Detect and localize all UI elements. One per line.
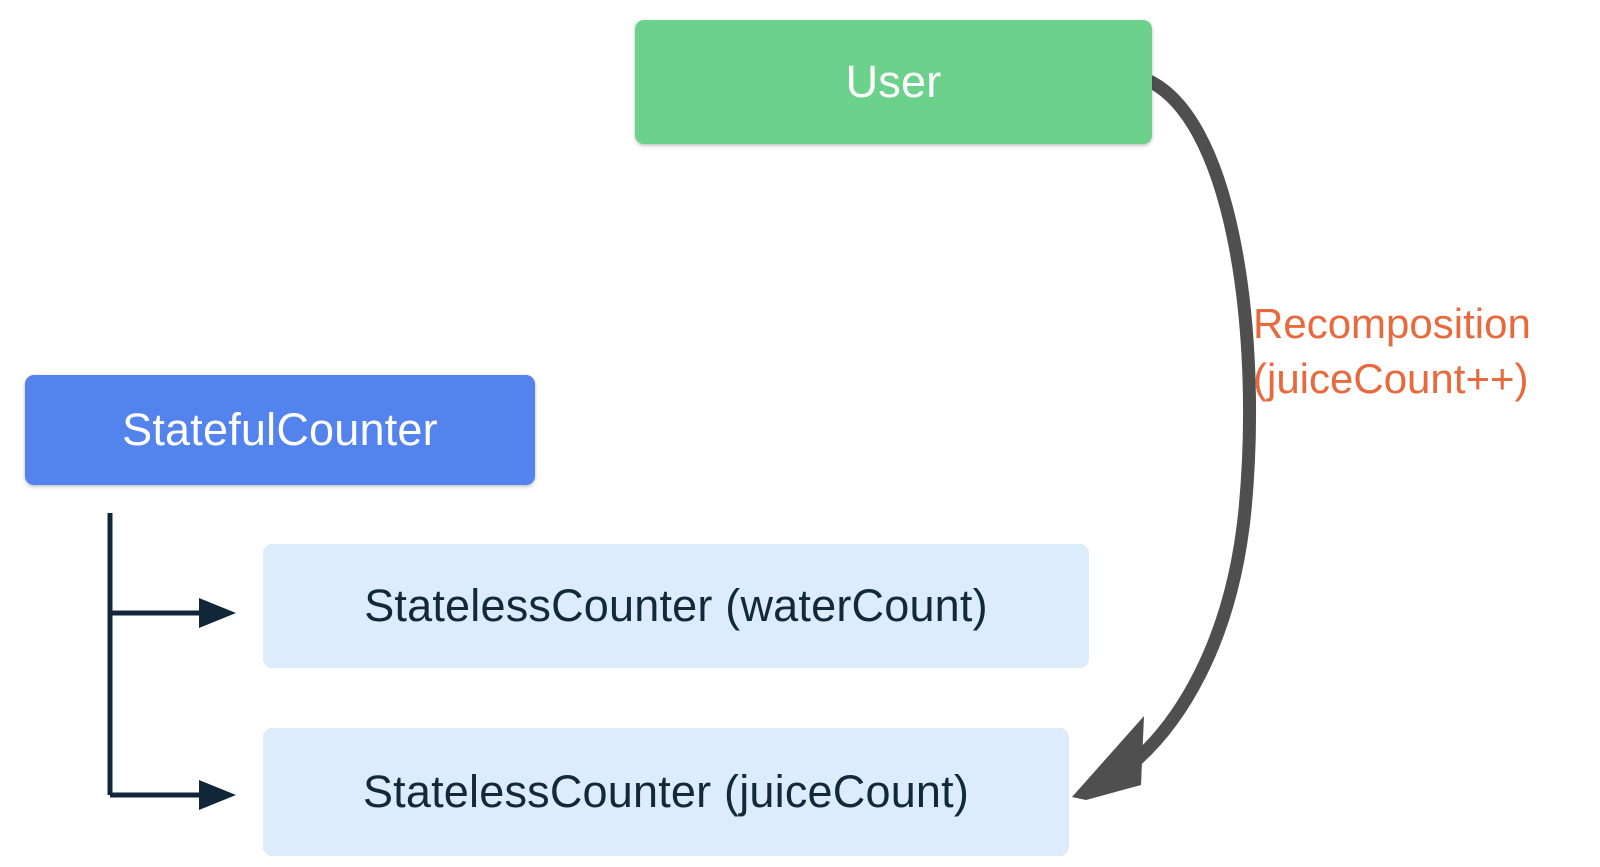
- node-stateful-counter[interactable]: StatefulCounter: [25, 375, 535, 485]
- diagram-canvas: User StatefulCounter StatelessCounter (w…: [0, 0, 1600, 867]
- edge-stateful-to-water-arrowhead: [199, 598, 236, 628]
- annotation-recomposition: Recomposition (juiceCount++): [1253, 297, 1531, 406]
- node-stateful-counter-label: StatefulCounter: [25, 406, 535, 453]
- annotation-recomposition-line-1: Recomposition: [1253, 297, 1531, 352]
- node-stateless-counter-juice[interactable]: StatelessCounter (juiceCount): [263, 728, 1069, 856]
- edge-stateful-to-juice-arrowhead: [199, 780, 236, 810]
- node-stateless-counter-water-label: StatelessCounter (waterCount): [263, 582, 1089, 629]
- annotation-recomposition-line-2: (juiceCount++): [1253, 352, 1531, 407]
- edge-user-to-juice-arrowhead: [1072, 716, 1144, 800]
- node-stateless-counter-juice-label: StatelessCounter (juiceCount): [263, 768, 1069, 815]
- node-stateless-counter-water[interactable]: StatelessCounter (waterCount): [263, 544, 1089, 668]
- edge-user-to-juice-curve: [1118, 78, 1250, 775]
- node-user[interactable]: User: [635, 20, 1152, 144]
- node-user-label: User: [635, 58, 1152, 105]
